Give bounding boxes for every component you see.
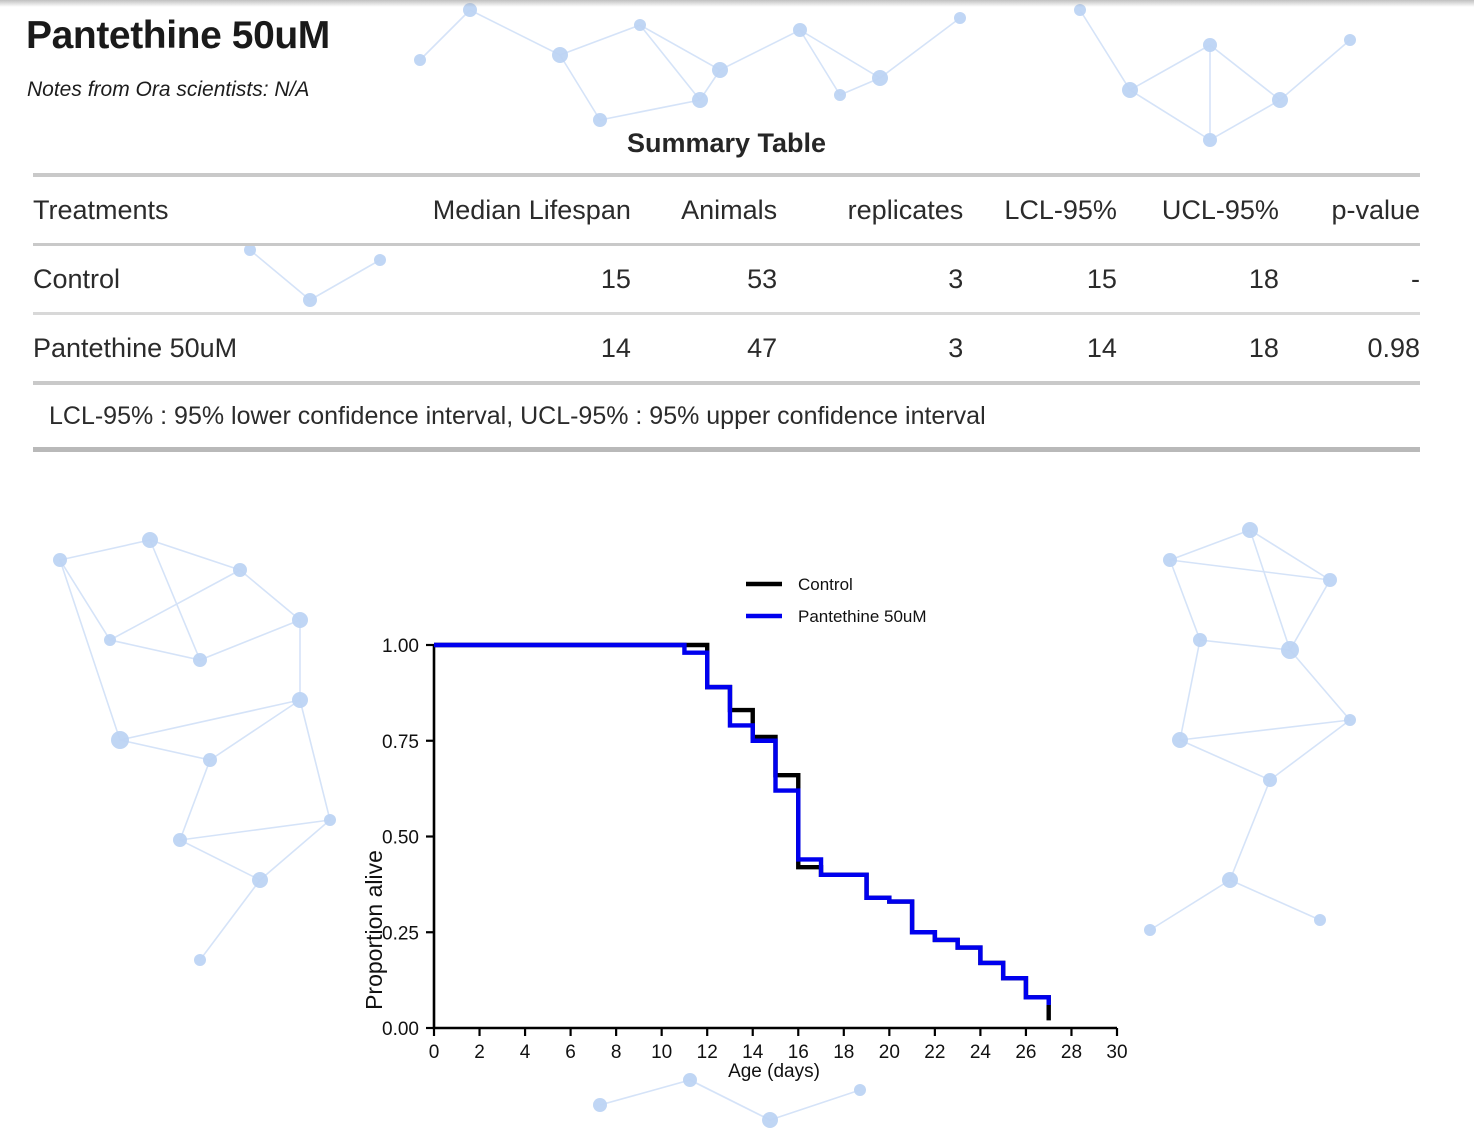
- top-edge-shadow: [0, 0, 1474, 7]
- y-tick-label: 1.00: [382, 636, 419, 657]
- legend-label-1: Control: [798, 575, 853, 594]
- series-line-pantethine-50um: [434, 645, 1049, 1005]
- scientist-notes: Notes from Ora scientists: N/A: [27, 78, 309, 102]
- column-header-replicates: replicates: [777, 175, 963, 245]
- column-header-animals: Animals: [631, 175, 777, 245]
- legend-label-2: Pantethine 50uM: [798, 607, 927, 626]
- column-header-ucl-95: UCL-95%: [1117, 175, 1279, 245]
- cell-ucl-95: 18: [1117, 314, 1279, 384]
- cell-animals: 53: [631, 245, 777, 314]
- cell-replicates: 3: [777, 314, 963, 384]
- table-row: Pantethine 50uM 14 47 3 14 18 0.98: [33, 314, 1420, 384]
- summary-table-caption: Summary Table: [33, 128, 1420, 173]
- table-row: Control 15 53 3 15 18 -: [33, 245, 1420, 314]
- summary-table: Treatments Median Lifespan Animals repli…: [33, 173, 1420, 385]
- x-tick-label: 22: [924, 1042, 945, 1063]
- cell-p-value: -: [1279, 245, 1420, 314]
- cell-treatment: Pantethine 50uM: [33, 314, 347, 384]
- chart-legend: ControlPantethine 50uM: [746, 575, 927, 626]
- column-header-median-lifespan: Median Lifespan: [347, 175, 631, 245]
- report-page: Pantethine 50uM Notes from Ora scientist…: [0, 0, 1474, 1144]
- series-line-control: [434, 645, 1049, 1020]
- column-header-treatments: Treatments: [33, 175, 347, 245]
- summary-table-section: Summary Table Treatments Median Lifespan…: [33, 128, 1420, 452]
- cell-replicates: 3: [777, 245, 963, 314]
- y-tick-label: 0.75: [382, 732, 419, 753]
- x-tick-label: 2: [474, 1042, 485, 1063]
- confidence-interval-legend: LCL-95% : 95% lower confidence interval,…: [33, 385, 1420, 452]
- y-tick-label: 0.25: [382, 923, 419, 944]
- x-tick-label: 0: [429, 1042, 440, 1063]
- summary-table-head: Treatments Median Lifespan Animals repli…: [33, 175, 1420, 245]
- x-tick-label: 10: [651, 1042, 672, 1063]
- chart-axes: 0246810121416182022242628300.000.250.500…: [382, 636, 1128, 1063]
- table-header-row: Treatments Median Lifespan Animals repli…: [33, 175, 1420, 245]
- x-axis-title: Age (days): [728, 1061, 820, 1082]
- x-tick-label: 18: [833, 1042, 854, 1063]
- cell-treatment: Control: [33, 245, 347, 314]
- column-header-p-value: p-value: [1279, 175, 1420, 245]
- cell-lcl-95: 14: [963, 314, 1117, 384]
- page-title: Pantethine 50uM: [26, 14, 330, 58]
- x-tick-label: 24: [970, 1042, 992, 1063]
- cell-animals: 47: [631, 314, 777, 384]
- x-tick-label: 4: [520, 1042, 531, 1063]
- x-tick-label: 28: [1061, 1042, 1082, 1063]
- y-tick-label: 0.00: [382, 1019, 419, 1040]
- column-header-lcl-95: LCL-95%: [963, 175, 1117, 245]
- x-tick-label: 6: [565, 1042, 576, 1063]
- y-tick-label: 0.50: [382, 828, 419, 849]
- x-tick-label: 26: [1015, 1042, 1036, 1063]
- cell-lcl-95: 15: [963, 245, 1117, 314]
- cell-median-lifespan: 15: [347, 245, 631, 314]
- x-tick-label: 8: [611, 1042, 622, 1063]
- chart-series: [434, 645, 1049, 1020]
- x-tick-label: 30: [1106, 1042, 1127, 1063]
- x-tick-label: 20: [879, 1042, 900, 1063]
- y-axis-title: Proportion alive: [361, 850, 387, 1010]
- summary-table-body: Control 15 53 3 15 18 - Pantethine 50uM …: [33, 245, 1420, 384]
- cell-median-lifespan: 14: [347, 314, 631, 384]
- cell-p-value: 0.98: [1279, 314, 1420, 384]
- survival-chart: ControlPantethine 50uM 02468101214161820…: [0, 520, 1474, 1130]
- x-tick-label: 16: [788, 1042, 809, 1063]
- cell-ucl-95: 18: [1117, 245, 1279, 314]
- x-tick-label: 12: [697, 1042, 718, 1063]
- kaplan-meier-plot: ControlPantethine 50uM 02468101214161820…: [0, 520, 1474, 1130]
- x-tick-label: 14: [742, 1042, 764, 1063]
